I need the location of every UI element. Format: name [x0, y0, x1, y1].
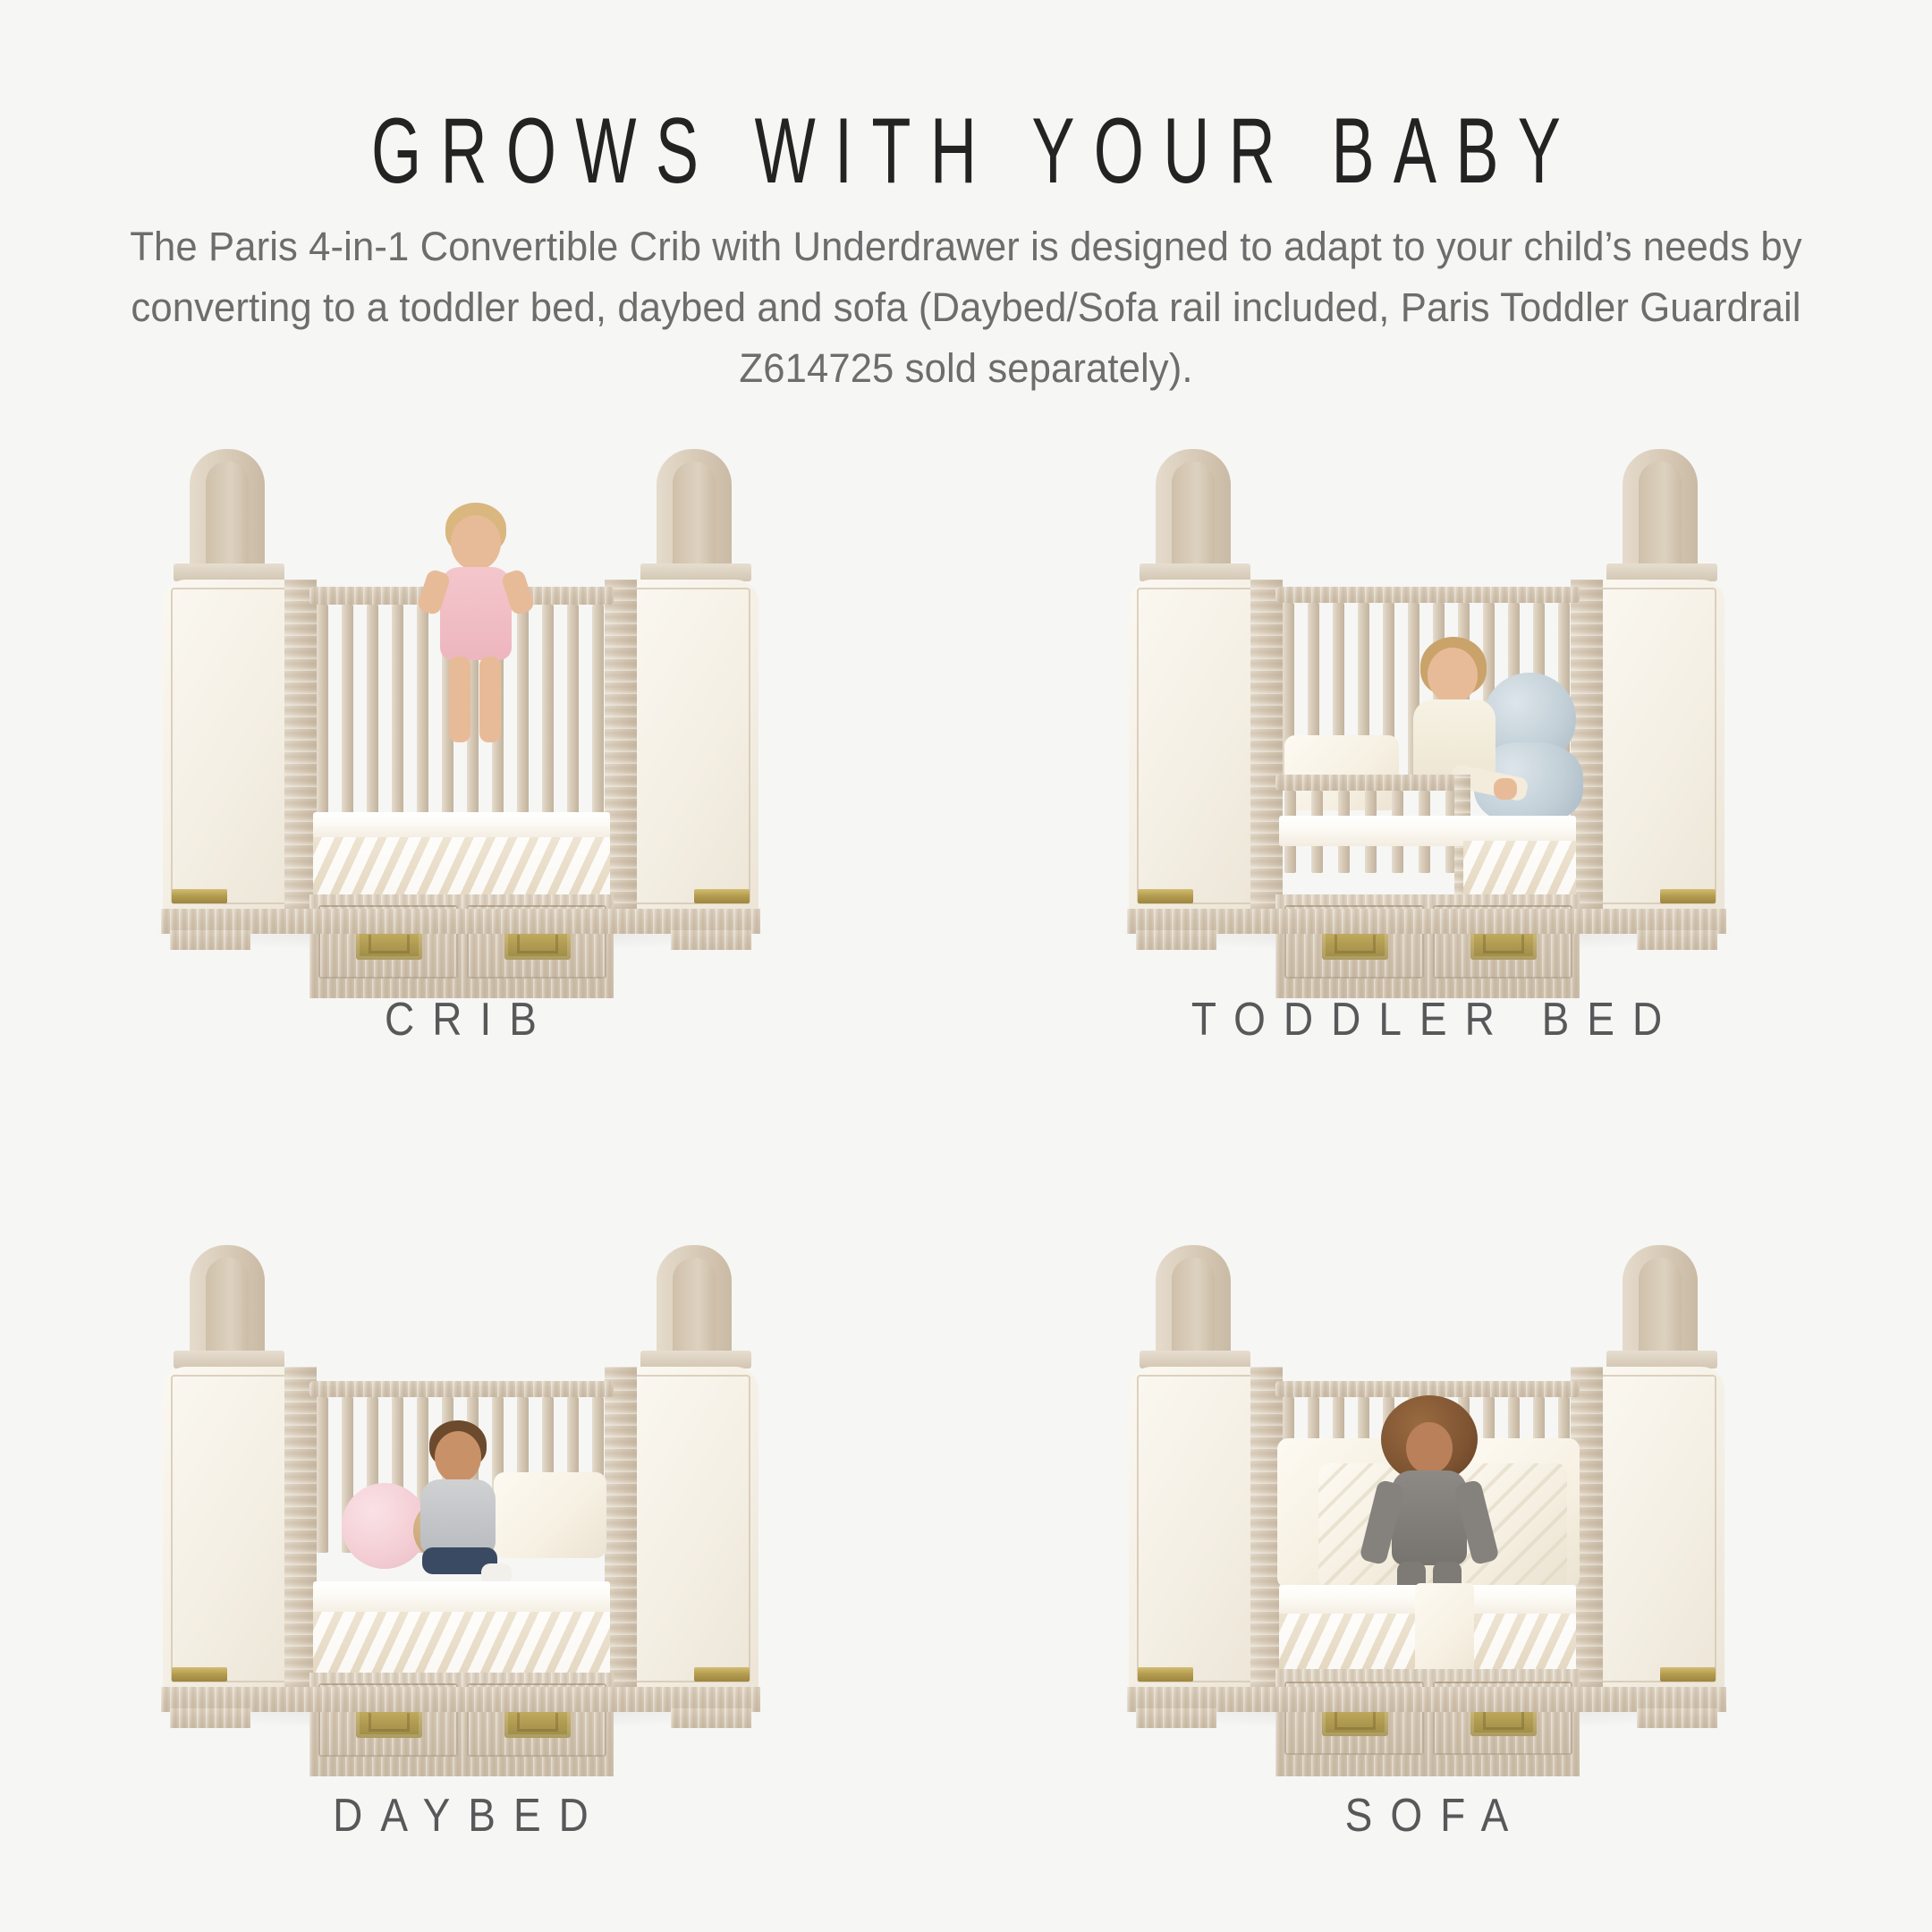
- right-post-cap: [1606, 563, 1717, 581]
- left-post-finial: [1156, 449, 1231, 571]
- foot-left: [1136, 930, 1216, 950]
- left-post-finial: [1156, 1245, 1231, 1356]
- right-post-finial: [1623, 1245, 1698, 1356]
- left-post-finial: [190, 449, 265, 571]
- left-post-cap: [1140, 563, 1250, 581]
- product-feature-graphic: GROWS WITH YOUR BABY The Paris 4-in-1 Co…: [0, 0, 1932, 1932]
- foot-right: [1637, 930, 1717, 950]
- foot-left: [1136, 1708, 1216, 1728]
- mattress: [313, 812, 610, 839]
- foot-left: [170, 930, 250, 950]
- left-end-panel: [163, 1367, 295, 1690]
- toddler-bed-illustration: [1100, 447, 1753, 948]
- foot-right: [671, 1708, 751, 1728]
- caption-sofa: SOFA: [1100, 1788, 1753, 1842]
- sofa-illustration: [1100, 1225, 1753, 1726]
- foot-left: [170, 1708, 250, 1728]
- crib-skirt: [313, 837, 610, 900]
- right-brass-bracket: [694, 889, 750, 903]
- toddler-guardrail-top: [1275, 775, 1463, 791]
- left-post-cap: [174, 1351, 284, 1368]
- left-end-panel: [1129, 580, 1261, 912]
- foot-right: [671, 930, 751, 950]
- mattress: [313, 1581, 610, 1615]
- left-brass-bracket: [1138, 889, 1193, 903]
- left-post-finial: [190, 1245, 265, 1356]
- left-brass-bracket: [172, 889, 227, 903]
- daybed-back-rail: [309, 1381, 614, 1397]
- right-post-cap: [1606, 1351, 1717, 1368]
- left-end-panel: [163, 580, 295, 912]
- crib-illustration: [134, 447, 787, 948]
- left-end-panel: [1129, 1367, 1261, 1690]
- right-brass-bracket: [1660, 889, 1716, 903]
- right-brass-bracket: [1660, 1667, 1716, 1682]
- left-frame-stile: [284, 1367, 317, 1705]
- product-figure-sofa: SOFA: [1100, 1225, 1753, 1726]
- foot-right: [1637, 1708, 1717, 1728]
- right-post-cap: [640, 1351, 751, 1368]
- right-end-panel: [626, 580, 758, 912]
- caption-daybed: DAYBED: [134, 1788, 787, 1842]
- header: GROWS WITH YOUR BABY The Paris 4-in-1 Co…: [0, 0, 1932, 399]
- caption-toddler-bed: TODDLER BED: [1100, 992, 1753, 1046]
- right-post-cap: [640, 563, 751, 581]
- product-figure-toddler-bed: TODDLER BED: [1100, 447, 1753, 948]
- left-post-cap: [1140, 1351, 1250, 1368]
- bed-skirt: [1463, 841, 1576, 896]
- child-figure: [404, 1420, 513, 1599]
- product-figure-daybed: DAYBED: [134, 1225, 787, 1726]
- right-end-panel: [1592, 1367, 1724, 1690]
- left-frame-stile: [1250, 580, 1283, 927]
- back-rail: [1275, 587, 1580, 603]
- left-brass-bracket: [172, 1667, 227, 1682]
- child-figure: [417, 503, 533, 771]
- product-figure-crib: CRIB: [134, 447, 787, 948]
- right-post-finial: [1623, 449, 1698, 571]
- right-post-finial: [657, 1245, 732, 1356]
- right-post-finial: [657, 449, 732, 571]
- page-title: GROWS WITH YOUR BABY: [174, 100, 1758, 201]
- left-post-cap: [174, 563, 284, 581]
- right-brass-bracket: [694, 1667, 750, 1682]
- daybed-illustration: [134, 1225, 787, 1726]
- bed-skirt: [313, 1612, 610, 1673]
- right-end-panel: [626, 1367, 758, 1690]
- left-brass-bracket: [1138, 1667, 1193, 1682]
- caption-crib: CRIB: [134, 992, 787, 1046]
- left-frame-stile: [284, 580, 317, 927]
- right-end-panel: [1592, 580, 1724, 912]
- page-description: The Paris 4-in-1 Convertible Crib with U…: [89, 216, 1842, 399]
